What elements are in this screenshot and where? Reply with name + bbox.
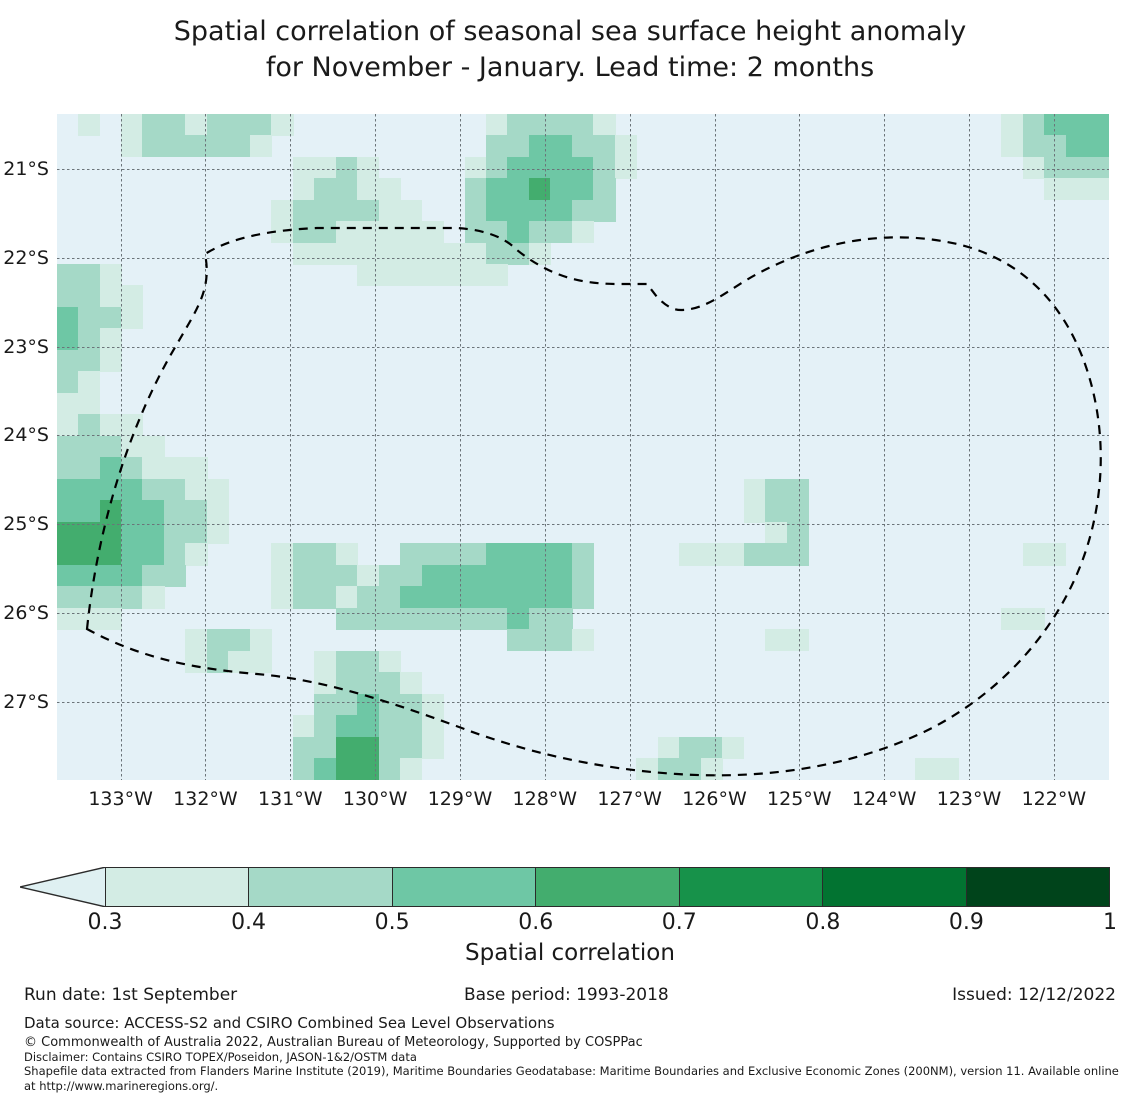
latitude-tick-label: 23°S [3,336,49,358]
colorbar-tick-label: 0.6 [518,910,553,935]
longitude-tick-label: 125°W [767,788,832,810]
longitude-tick-label: 128°W [513,788,578,810]
colorbar-tick-label: 1 [1103,910,1117,935]
latitude-tick-label: 27°S [3,691,49,713]
run-date: Run date: 1st September [24,985,237,1005]
longitude-tick-label: 122°W [1022,788,1087,810]
copyright-text: © Commonwealth of Australia 2022, Austra… [24,1035,643,1050]
issued-date: Issued: 12/12/2022 [952,985,1116,1005]
longitude-tick-label: 131°W [258,788,323,810]
longitude-tick-label: 129°W [428,788,493,810]
colorbar-tick-label: 0.5 [375,910,410,935]
data-source-text: Data source: ACCESS-S2 and CSIRO Combine… [24,1014,555,1032]
latitude-tick-label: 25°S [3,513,49,535]
map-plot-area [57,114,1109,780]
colorbar-extend-arrow [20,867,106,907]
colorbar-tick-label: 0.8 [805,910,840,935]
colorbar-segment [536,868,679,906]
page-title: Spatial correlation of seasonal sea surf… [0,14,1140,86]
colorbar-segment [106,868,249,906]
latitude-tick-label: 24°S [3,424,49,446]
longitude-tick-label: 132°W [173,788,238,810]
shapefile-credit: Shapefile data extracted from Flanders M… [24,1064,1124,1094]
colorbar-label: Spatial correlation [0,940,1140,966]
longitude-tick-label: 126°W [682,788,747,810]
colorbar-tick-label: 0.4 [231,910,266,935]
latitude-tick-label: 21°S [3,158,49,180]
disclaimer-text: Disclaimer: Contains CSIRO TOPEX/Poseido… [24,1050,417,1064]
colorbar-segment [249,868,392,906]
colorbar-segment [967,868,1109,906]
colorbar-tick-label: 0.3 [88,910,123,935]
colorbar-tick-label: 0.7 [662,910,697,935]
base-period: Base period: 1993-2018 [464,985,669,1005]
colorbar-gradient [105,867,1110,907]
colorbar: 0.30.40.50.60.70.80.91 Spatial correlati… [0,862,1140,962]
longitude-tick-label: 133°W [88,788,153,810]
latitude-tick-label: 26°S [3,602,49,624]
latitude-tick-label: 22°S [3,247,49,269]
eez-boundary-layer [57,114,1109,780]
colorbar-segment [680,868,823,906]
longitude-tick-label: 123°W [937,788,1002,810]
eez-boundary-path [87,228,1101,775]
colorbar-segment [393,868,536,906]
longitude-tick-label: 130°W [343,788,408,810]
colorbar-segment [823,868,966,906]
longitude-tick-label: 124°W [852,788,917,810]
colorbar-tick-label: 0.9 [949,910,984,935]
longitude-tick-label: 127°W [597,788,662,810]
